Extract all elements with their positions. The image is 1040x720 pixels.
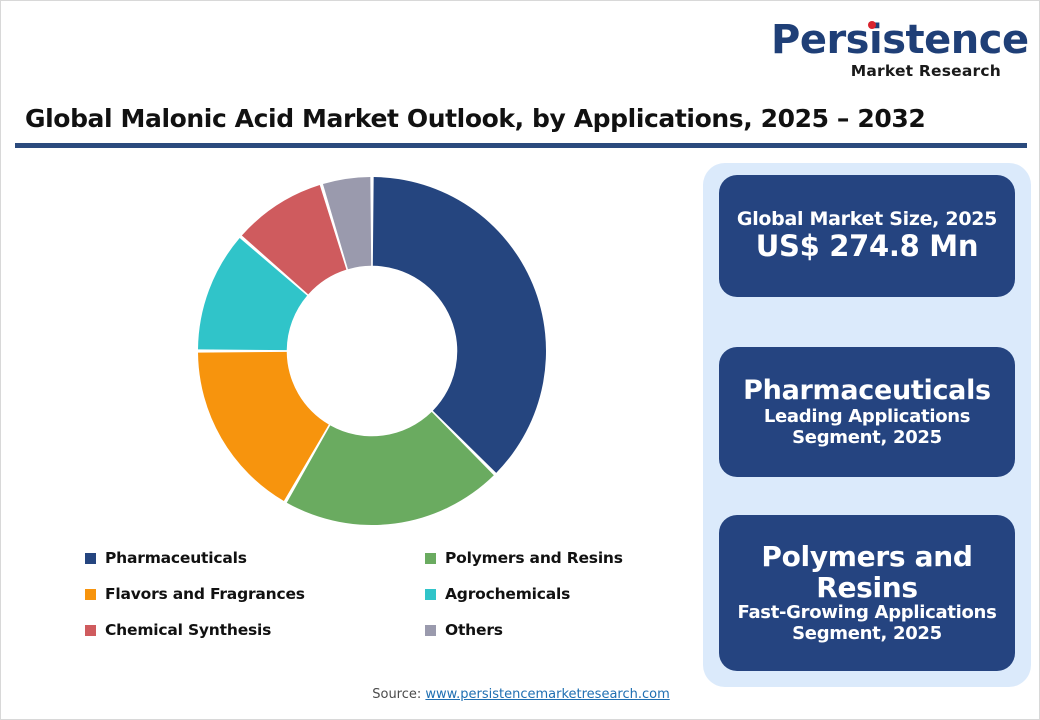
title-divider [15,143,1027,148]
legend-label: Others [445,621,503,639]
legend-swatch-icon [85,589,96,600]
chart-legend: Pharmaceuticals Polymers and Resins Flav… [85,549,705,639]
legend-item-others[interactable]: Others [425,621,705,639]
card-fast-growing-headline-1: Polymers and [761,541,972,572]
card-market-size-caption: Global Market Size, 2025 [737,208,997,230]
source-line: Source: www.persistencemarketresearch.co… [1,687,1040,702]
legend-label: Agrochemicals [445,585,570,603]
legend-swatch-icon [425,553,436,564]
chart-area [31,161,691,551]
brand-name: Persistence [771,19,1029,61]
legend-item-flavors-and-fragrances[interactable]: Flavors and Fragrances [85,585,425,603]
legend-swatch-icon [425,589,436,600]
donut-slice[interactable] [373,177,546,473]
legend-label: Pharmaceuticals [105,549,247,567]
donut-chart-svg [198,177,546,525]
legend-swatch-icon [425,625,436,636]
legend-item-pharmaceuticals[interactable]: Pharmaceuticals [85,549,425,567]
card-leading-segment-subline-2: Segment, 2025 [792,428,942,449]
page-title: Global Malonic Acid Market Outlook, by A… [25,104,1005,133]
brand-logo: Persistence Market Research [771,19,1001,85]
card-fast-growing-subline-2: Segment, 2025 [792,624,942,645]
donut-chart [198,177,546,525]
legend-swatch-icon [85,553,96,564]
legend-item-chemical-synthesis[interactable]: Chemical Synthesis [85,621,425,639]
card-fast-growing-headline-2: Resins [816,572,918,603]
legend-item-polymers-and-resins[interactable]: Polymers and Resins [425,549,705,567]
legend-swatch-icon [85,625,96,636]
brand-dot-icon [868,21,876,29]
highlight-panel: Global Market Size, 2025 US$ 274.8 Mn Ph… [703,163,1031,687]
legend-item-agrochemicals[interactable]: Agrochemicals [425,585,705,603]
legend-label: Flavors and Fragrances [105,585,305,603]
brand-tagline: Market Research [771,62,1001,80]
card-market-size: Global Market Size, 2025 US$ 274.8 Mn [719,175,1015,297]
source-url-link[interactable]: www.persistencemarketresearch.com [425,687,669,702]
card-leading-segment-headline: Pharmaceuticals [743,375,991,406]
legend-label: Chemical Synthesis [105,621,271,639]
legend-label: Polymers and Resins [445,549,623,567]
card-leading-segment-subline-1: Leading Applications [764,407,970,428]
infographic-page: Persistence Market Research Global Malon… [0,0,1040,720]
card-leading-segment: Pharmaceuticals Leading Applications Seg… [719,347,1015,477]
source-label: Source: [372,687,421,702]
card-fast-growing-segment: Polymers and Resins Fast-Growing Applica… [719,515,1015,671]
card-market-size-value: US$ 274.8 Mn [756,230,978,264]
card-fast-growing-subline-1: Fast-Growing Applications [738,603,997,624]
